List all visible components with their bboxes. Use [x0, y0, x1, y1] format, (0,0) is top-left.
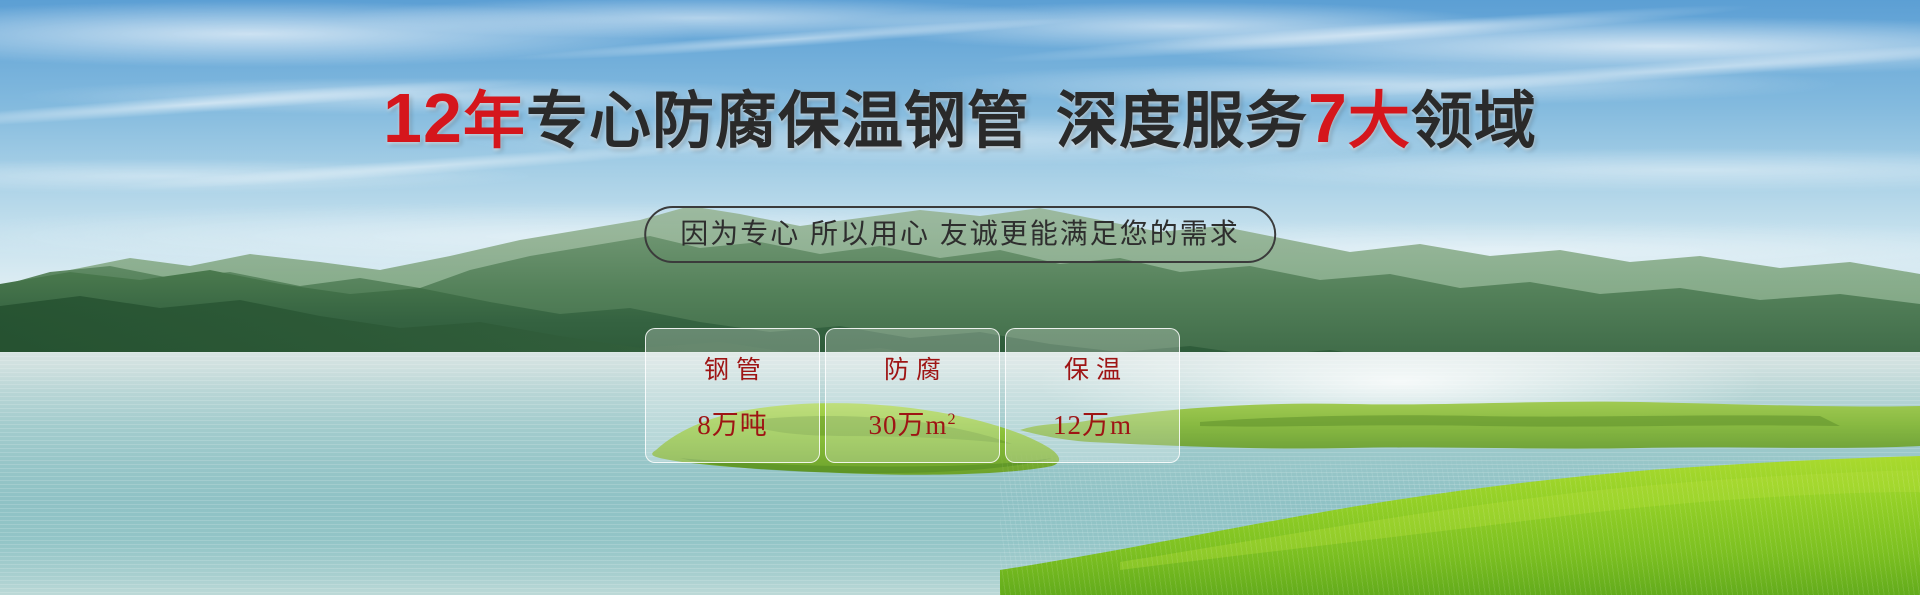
- banner-headline: 12年专心防腐保温钢管深度服务7大领域: [0, 82, 1920, 156]
- stat-card-value: 12万m: [1053, 403, 1132, 442]
- stat-card-value-base: 30万m: [868, 410, 947, 440]
- headline-fields-text: 领域: [1411, 87, 1537, 156]
- grass-blade-texture: [1000, 452, 1920, 595]
- stat-card-value-superscript: 2: [947, 410, 956, 428]
- headline-service-text: 深度服务: [1056, 87, 1308, 156]
- stat-card[interactable]: 防腐 30万m2: [825, 328, 1000, 463]
- subtitle-pill: 因为专心 所以用心 友诚更能满足您的需求: [644, 206, 1276, 263]
- headline-years-unit: 年: [463, 87, 526, 156]
- stat-card-value-base: 8万吨: [697, 410, 768, 440]
- stat-card-label: 钢管: [697, 350, 768, 386]
- stat-card-value: 30万m2: [868, 403, 956, 442]
- stat-card-group: 钢管 8万吨 防腐 30万m2 保温 12万m: [645, 328, 1180, 463]
- headline-main-text: 专心防腐保温钢管: [526, 87, 1030, 156]
- stat-card-label: 保温: [1057, 350, 1128, 386]
- headline-fields-unit: 大: [1348, 87, 1411, 156]
- headline-years-number: 12: [383, 79, 463, 157]
- stat-card-label: 防腐: [877, 350, 948, 386]
- stat-card-value-base: 12万m: [1053, 410, 1132, 440]
- stat-card[interactable]: 钢管 8万吨: [645, 328, 820, 463]
- stat-card[interactable]: 保温 12万m: [1005, 328, 1180, 463]
- stat-card-value: 8万吨: [697, 403, 768, 442]
- promo-banner: 12年专心防腐保温钢管深度服务7大领域 因为专心 所以用心 友诚更能满足您的需求…: [0, 0, 1920, 595]
- headline-fields-number: 7: [1308, 79, 1348, 157]
